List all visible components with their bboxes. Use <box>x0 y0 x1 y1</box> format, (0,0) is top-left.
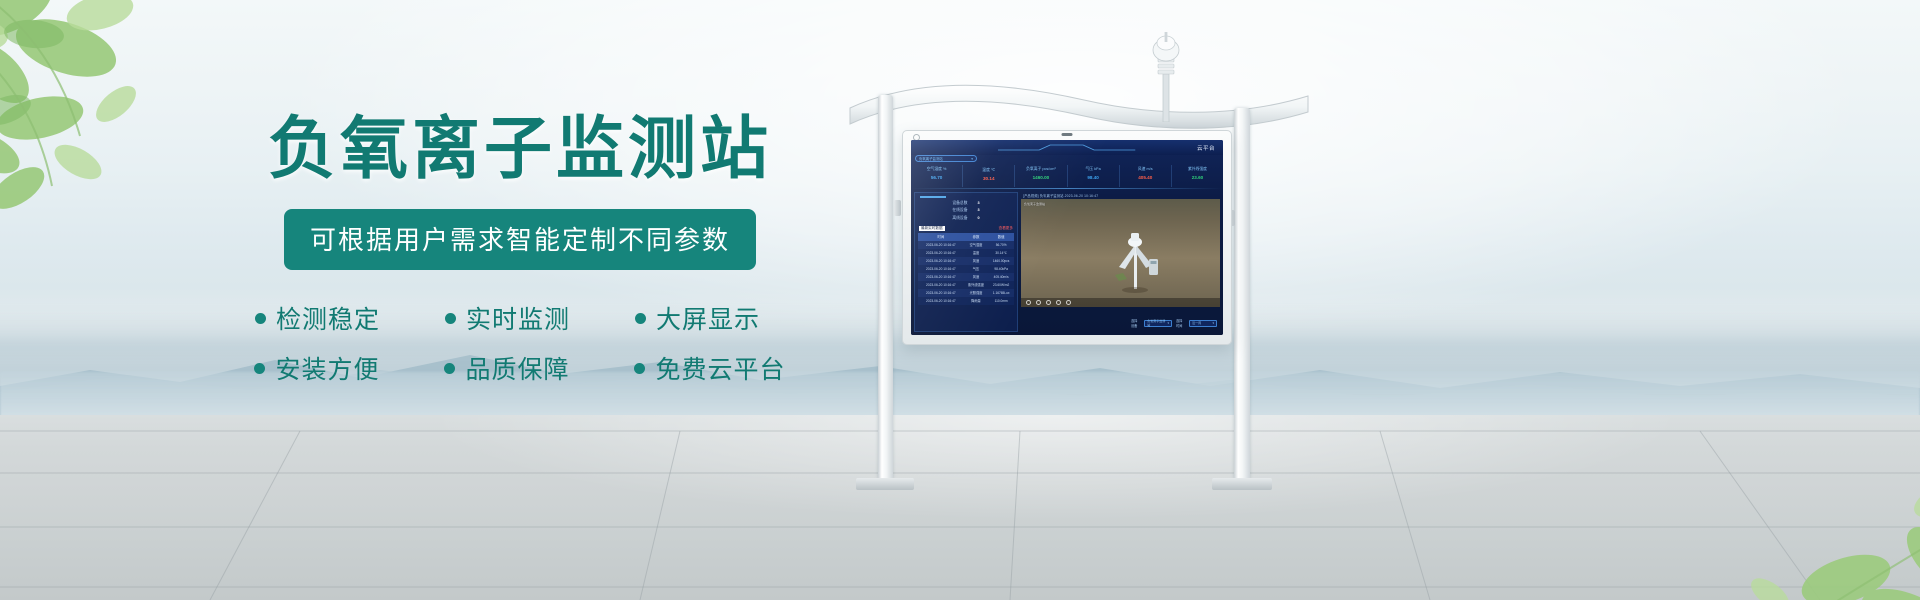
table-cell: 30.14℃ <box>988 249 1014 257</box>
kpi-label: 气压 kPa <box>1068 167 1119 172</box>
table-cell: 降雨量 <box>964 297 989 305</box>
display-cabinet: 云平台 负氧离子监测站 ▾ 空气湿度 % 56.70 <box>902 130 1232 345</box>
stats-and-alarm-panel: 设备总数 3 在线设备 3 离线设备 0 最新实时数据 <box>914 192 1018 332</box>
video-toolbar[interactable] <box>1021 298 1220 307</box>
feature-item: 安装方便 <box>254 350 404 386</box>
table-cell: 405.40m/s <box>988 273 1014 281</box>
feature-label: 大屏显示 <box>656 300 760 336</box>
kiosk-screen[interactable]: 云平台 负氧离子监测站 ▾ 空气湿度 % 56.70 <box>911 140 1223 335</box>
table-row: 2023-06-20 10:16:47 降雨量 110.0mm <box>918 297 1014 305</box>
table-body: 2023-06-20 10:16:47 空气湿度 56.70% 2023-06-… <box>918 241 1014 305</box>
table-cell: 2023-06-20 10:16:47 <box>918 265 964 273</box>
table-cell: 1.16765Lux <box>988 289 1014 297</box>
kpi-value: 56.70 <box>911 175 962 180</box>
stat-line: 在线设备 3 <box>915 208 1017 213</box>
bullet-dot-icon <box>254 363 265 374</box>
feature-item: 免费云平台 <box>634 350 785 386</box>
chevron-down-icon: ▾ <box>971 157 973 161</box>
feature-item: 检测稳定 <box>255 300 405 336</box>
stat-label: 在线设备 <box>952 208 967 213</box>
device-filter-value: 负氧离子监测站 <box>1147 319 1167 327</box>
device-filter-select[interactable]: 负氧离子监测站 ▾ <box>1144 320 1172 327</box>
dashboard-title: 云平台 <box>1197 144 1215 152</box>
kpi-card: 风速 m/s 405.40 <box>1120 165 1172 187</box>
video-caption: [产品视频] 负氧离子监测站-2023-06-20 10:16:47 <box>1021 192 1220 199</box>
bullet-dot-icon <box>634 363 645 374</box>
kpi-value: 1460.00 <box>1015 175 1066 180</box>
alarm-more-link[interactable]: 查看更多 <box>999 226 1013 231</box>
time-filter-label: 选择时间 <box>1176 318 1185 328</box>
bullet-dot-icon <box>445 313 456 324</box>
cloud-platform-dashboard: 云平台 负氧离子监测站 ▾ 空气湿度 % 56.70 <box>911 140 1223 335</box>
kpi-label: 温度 ℃ <box>963 167 1014 173</box>
table-cell: 2023-06-20 10:16:47 <box>918 273 964 281</box>
table-cell: 风速 <box>964 257 989 265</box>
kiosk-post-right <box>1234 108 1250 480</box>
kpi-value: 405.40 <box>1120 175 1171 180</box>
table-cell: 2023-06-20 10:16:47 <box>918 249 964 257</box>
kiosk-base-right <box>1212 478 1272 490</box>
header-swoosh-decoration <box>998 142 1135 153</box>
stat-value: 3 <box>978 201 980 206</box>
feature-item: 品质保障 <box>444 350 594 386</box>
table-header-row: 时间 参数 数值 <box>918 233 1014 241</box>
live-video-panel: [产品视频] 负氧离子监测站-2023-06-20 10:16:47 负氧离子监… <box>1021 192 1220 332</box>
table-cell: 23.60W/m2 <box>988 281 1014 289</box>
video-overlay-text: 负氧离子监测站 <box>1024 202 1217 206</box>
stat-line: 离线设备 0 <box>915 216 1017 221</box>
table-row: 2023-06-20 10:16:47 光照强度 1.16765Lux <box>918 289 1014 297</box>
video-viewport[interactable]: 负氧离子监测站 <box>1021 199 1220 307</box>
stat-value: 3 <box>978 208 980 213</box>
device-filter-label: 选择设备 <box>1131 318 1140 328</box>
table-row: 2023-06-20 10:16:47 气压 98.40kPa <box>918 265 1014 273</box>
table-row: 2023-06-20 10:16:47 紫外线强度 23.60W/m2 <box>918 281 1014 289</box>
video-filter-bar: 选择设备 负氧离子监测站 ▾ 选择时间 近一周 ▾ <box>1131 317 1217 329</box>
chevron-down-icon: ▾ <box>1167 321 1169 325</box>
table-cell: 2023-06-20 10:16:47 <box>918 241 964 249</box>
table-row: 2023-06-20 10:16:47 风速 405.40m/s <box>918 273 1014 281</box>
video-overlay-right: 负氧离子监测站 <box>1024 202 1045 206</box>
dashboard-divider <box>911 188 1223 189</box>
volume-icon[interactable] <box>1056 300 1061 305</box>
record-icon[interactable] <box>1046 300 1051 305</box>
feature-label: 实时监测 <box>466 300 570 336</box>
product-banner: 负氧离子监测站 可根据用户需求智能定制不同参数 检测稳定 实时监测 大屏显示 <box>0 0 1920 600</box>
kpi-card: 气压 kPa 98.40 <box>1068 165 1120 187</box>
stat-label: 离线设备 <box>952 216 967 221</box>
kpi-value: 23.60 <box>1172 175 1223 180</box>
time-filter-value: 近一周 <box>1192 321 1201 325</box>
table-cell: 温度 <box>964 249 989 257</box>
kpi-label: 风速 m/s <box>1120 167 1171 172</box>
panel-accent-bar <box>920 196 946 198</box>
chevron-down-icon: ▾ <box>1212 321 1214 325</box>
monitoring-station-kiosk: 云平台 负氧离子监测站 ▾ 空气湿度 % 56.70 <box>830 20 1330 520</box>
table-cell: 光照强度 <box>964 289 989 297</box>
stat-value: 0 <box>978 216 980 221</box>
feature-label: 品质保障 <box>465 350 569 386</box>
kpi-value: 30.14 <box>963 176 1014 181</box>
table-cell: 紫外线强度 <box>964 281 989 289</box>
kpi-row: 空气湿度 % 56.70 温度 ℃ 30.14 负氧离子 pcs/cm³ 146… <box>911 165 1223 187</box>
feature-item: 实时监测 <box>445 300 595 336</box>
kiosk-post-left <box>878 95 893 480</box>
feature-label: 安装方便 <box>275 350 379 386</box>
alarm-header: 最新实时数据 查看更多 <box>919 226 1013 231</box>
bullet-dot-icon <box>635 313 646 324</box>
dashboard-header: 云平台 <box>911 140 1223 155</box>
weather-sensor-mast <box>1146 30 1186 122</box>
stat-label: 设备总数 <box>952 201 967 206</box>
kiosk-hinge-left <box>894 200 901 216</box>
table-cell: 2023-06-20 10:16:47 <box>918 297 964 305</box>
kpi-label: 负氧离子 pcs/cm³ <box>1015 167 1066 172</box>
kpi-card: 负氧离子 pcs/cm³ 1460.00 <box>1015 165 1067 187</box>
table-header-cell: 时间 <box>918 233 964 241</box>
field-weather-station-photo <box>1109 229 1165 293</box>
table-cell: 98.40kPa <box>988 265 1014 273</box>
table-cell: 2023-06-20 10:16:47 <box>918 289 964 297</box>
bullet-dot-icon <box>444 363 455 374</box>
table-cell: 2023-06-20 10:16:47 <box>918 281 964 289</box>
station-select[interactable]: 负氧离子监测站 ▾ <box>915 155 977 162</box>
kiosk-base-left <box>856 478 914 490</box>
play-icon[interactable] <box>1026 300 1031 305</box>
kpi-card: 空气湿度 % 56.70 <box>911 165 963 187</box>
fullscreen-icon[interactable] <box>1066 300 1071 305</box>
feature-item: 大屏显示 <box>635 300 785 336</box>
table-row: 2023-06-20 10:16:47 空气湿度 56.70% <box>918 241 1014 249</box>
table-cell: 气压 <box>964 265 989 273</box>
kpi-label: 空气湿度 % <box>911 167 962 172</box>
feature-label: 免费云平台 <box>655 350 785 386</box>
table-header-cell: 参数 <box>964 233 989 241</box>
table-row: 2023-06-20 10:16:47 风速 1460.00pcs <box>918 257 1014 265</box>
table-cell: 1460.00pcs <box>988 257 1014 265</box>
alarm-title: 最新实时数据 <box>919 226 945 231</box>
table-cell: 风速 <box>964 273 989 281</box>
camera-icon <box>1062 133 1073 136</box>
bullet-dot-icon <box>255 313 266 324</box>
kpi-value: 98.40 <box>1068 175 1119 180</box>
subtitle-badge: 可根据用户需求智能定制不同参数 <box>284 209 756 270</box>
snapshot-icon[interactable] <box>1036 300 1041 305</box>
kpi-label: 紫外线强度 <box>1172 167 1223 172</box>
table-row: 2023-06-20 10:16:47 温度 30.14℃ <box>918 249 1014 257</box>
stat-line: 设备总数 3 <box>915 201 1017 206</box>
table-header-cell: 数值 <box>988 233 1014 241</box>
realtime-data-table: 时间 参数 数值 2023-06-20 10:16:47 空气湿度 56.70% <box>918 233 1014 305</box>
kpi-card: 温度 ℃ 30.14 <box>963 165 1015 187</box>
kpi-card: 紫外线强度 23.60 <box>1172 165 1223 187</box>
time-filter-select[interactable]: 近一周 ▾ <box>1189 320 1217 327</box>
table-cell: 2023-06-20 10:16:47 <box>918 257 964 265</box>
station-select-value: 负氧离子监测站 <box>919 156 943 161</box>
table-cell: 56.70% <box>988 241 1014 249</box>
table-cell: 110.0mm <box>988 297 1014 305</box>
feature-label: 检测稳定 <box>276 300 380 336</box>
table-cell: 空气湿度 <box>964 241 989 249</box>
